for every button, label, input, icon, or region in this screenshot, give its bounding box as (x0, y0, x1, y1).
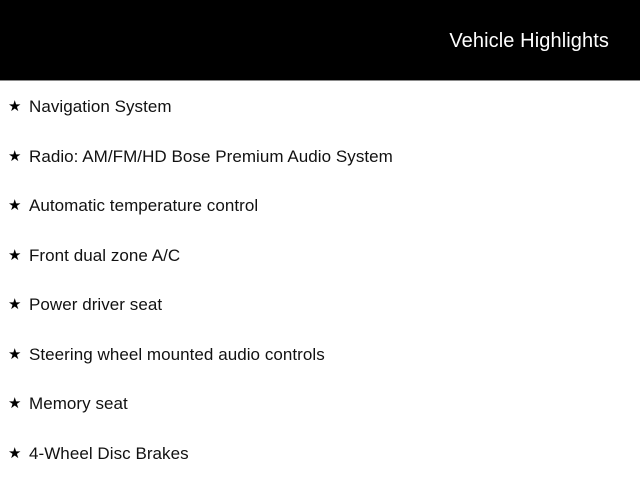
list-item: ★ Steering wheel mounted audio controls (0, 330, 640, 380)
list-item: ★ Front dual zone A/C (0, 231, 640, 281)
list-item-label: Memory seat (29, 379, 128, 429)
list-item: ★ Memory seat (0, 379, 640, 429)
star-icon: ★ (8, 379, 21, 429)
vehicle-highlights-page: Vehicle Highlights ★ Navigation System ★… (0, 0, 640, 480)
page-title: Vehicle Highlights (449, 30, 609, 52)
list-item: ★ Automatic temperature control (0, 181, 640, 231)
star-icon: ★ (8, 330, 21, 380)
star-icon: ★ (8, 132, 21, 182)
list-item-label: Steering wheel mounted audio controls (29, 330, 325, 380)
list-item-label: Front dual zone A/C (29, 231, 180, 281)
vehicle-highlights-list: ★ Navigation System ★ Radio: AM/FM/HD Bo… (0, 82, 640, 478)
list-item: ★ 4-Wheel Disc Brakes (0, 429, 640, 479)
list-item: ★ Radio: AM/FM/HD Bose Premium Audio Sys… (0, 132, 640, 182)
list-item-label: Navigation System (29, 82, 172, 132)
star-icon: ★ (8, 231, 21, 281)
star-icon: ★ (8, 429, 21, 479)
list-item-label: Automatic temperature control (29, 181, 258, 231)
list-item-label: Radio: AM/FM/HD Bose Premium Audio Syste… (29, 132, 393, 182)
star-icon: ★ (8, 280, 21, 330)
list-item: ★ Power driver seat (0, 280, 640, 330)
star-icon: ★ (8, 82, 21, 132)
list-item: ★ Navigation System (0, 82, 640, 132)
list-item-label: 4-Wheel Disc Brakes (29, 429, 189, 479)
header-divider (0, 80, 640, 81)
header-band: Vehicle Highlights (0, 0, 640, 80)
star-icon: ★ (8, 181, 21, 231)
list-item-label: Power driver seat (29, 280, 162, 330)
